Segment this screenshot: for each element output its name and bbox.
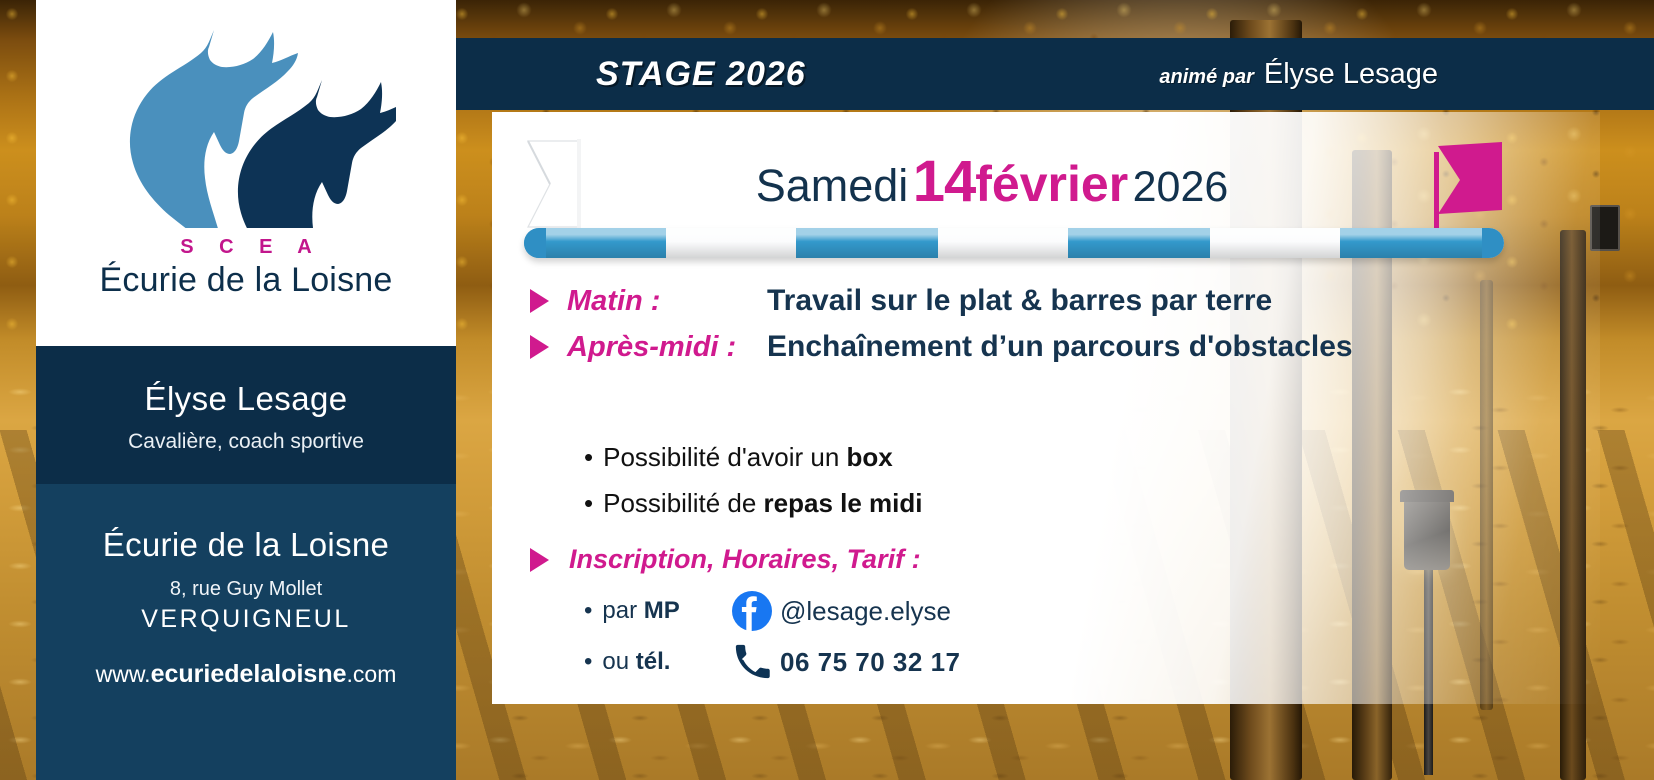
list-item: •Possibilité de repas le midi — [584, 488, 923, 519]
options-list: •Possibilité d'avoir un box •Possibilité… — [584, 442, 923, 534]
contact-label: •par MP — [584, 597, 724, 625]
jump-pole-left-cap — [524, 228, 546, 258]
poster-canvas: S C E A Écurie de la Loisne Élyse Lesage… — [0, 0, 1654, 780]
date-weekday: Samedi — [756, 160, 909, 211]
triangle-bullet-icon — [530, 289, 549, 313]
person-block: Élyse Lesage Cavalière, coach sportive — [36, 346, 456, 484]
program-row: Matin : Travail sur le plat & barres par… — [530, 284, 1530, 318]
person-name: Élyse Lesage — [46, 380, 446, 418]
jump-pole-icon — [524, 228, 1504, 258]
logo-scea-label: S C E A — [170, 236, 322, 259]
facebook-icon[interactable] — [724, 591, 780, 631]
contact-list: •par MP @lesage.elyse •ou tél. — [584, 591, 1530, 681]
inscription-block: Inscription, Horaires, Tarif : •par MP @… — [530, 544, 1530, 693]
phone-number[interactable]: 06 75 70 32 17 — [780, 647, 961, 678]
bullet-dot: • — [584, 442, 593, 472]
contact-label-emphasis: tél. — [636, 648, 671, 675]
contact-label-emphasis: MP — [644, 597, 680, 624]
website-prefix: www. — [96, 661, 151, 687]
program-row: Après-midi : Enchaînement d’un parcours … — [530, 330, 1530, 364]
triangle-bullet-icon — [530, 335, 549, 359]
program-label: Après-midi : — [567, 331, 767, 364]
inscription-header: Inscription, Horaires, Tarif : — [530, 544, 1530, 575]
logo-stable-name: Écurie de la Loisne — [100, 261, 393, 300]
header-banner: STAGE 2026 animé par Élyse Lesage — [456, 38, 1654, 110]
contact-label: •ou tél. — [584, 648, 724, 676]
option-emphasis: repas le midi — [764, 488, 923, 518]
stable-website[interactable]: www.ecuriedelaloisne.com — [36, 660, 456, 689]
event-date: Samedi 14février 2026 — [492, 148, 1492, 215]
list-item: •Possibilité d'avoir un box — [584, 442, 923, 473]
stable-city: VERQUIGNEUL — [36, 605, 456, 634]
sidebar: S C E A Écurie de la Loisne Élyse Lesage… — [36, 0, 456, 780]
bullet-dot: • — [584, 597, 592, 624]
program-label: Matin : — [567, 285, 767, 318]
website-suffix: .com — [347, 661, 397, 687]
main-content-card: Samedi 14février 2026 Matin : Travail su… — [492, 112, 1600, 704]
banner-host-lead: animé par — [1159, 66, 1253, 89]
contact-label-text: par — [602, 597, 643, 624]
white-flag-icon — [522, 139, 584, 231]
facebook-handle[interactable]: @lesage.elyse — [780, 596, 951, 627]
triangle-bullet-icon — [530, 548, 549, 572]
two-horse-heads-icon — [96, 18, 396, 228]
option-text: Possibilité de — [603, 488, 763, 518]
contact-row-phone[interactable]: •ou tél. 06 75 70 32 17 — [584, 643, 1530, 681]
inscription-title: Inscription, Horaires, Tarif : — [569, 544, 921, 575]
bullet-dot: • — [584, 648, 592, 675]
bullet-dot: • — [584, 488, 593, 518]
person-role: Cavalière, coach sportive — [46, 430, 446, 454]
stable-street: 8, rue Guy Mollet — [36, 578, 456, 601]
option-emphasis: box — [847, 442, 893, 472]
website-domain: ecuriedelaloisne — [151, 660, 347, 688]
banner-host-name: Élyse Lesage — [1264, 58, 1438, 91]
date-month: février — [975, 156, 1128, 212]
phone-icon[interactable] — [724, 643, 780, 681]
date-year: 2026 — [1133, 163, 1229, 211]
contact-row-facebook[interactable]: •par MP @lesage.elyse — [584, 591, 1530, 631]
banner-title: STAGE 2026 — [596, 55, 806, 94]
stable-block: Écurie de la Loisne 8, rue Guy Mollet VE… — [36, 484, 456, 780]
program-list: Matin : Travail sur le plat & barres par… — [530, 284, 1530, 376]
option-text: Possibilité d'avoir un — [603, 442, 846, 472]
banner-host: animé par Élyse Lesage — [1159, 58, 1438, 91]
contact-label-text: ou — [602, 648, 635, 675]
logo-card: S C E A Écurie de la Loisne — [36, 0, 456, 346]
date-day: 14 — [913, 149, 976, 214]
stable-name: Écurie de la Loisne — [36, 526, 456, 564]
pink-flag-icon — [1420, 140, 1504, 238]
program-text: Enchaînement d’un parcours d'obstacles — [767, 330, 1353, 364]
program-text: Travail sur le plat & barres par terre — [767, 284, 1272, 318]
